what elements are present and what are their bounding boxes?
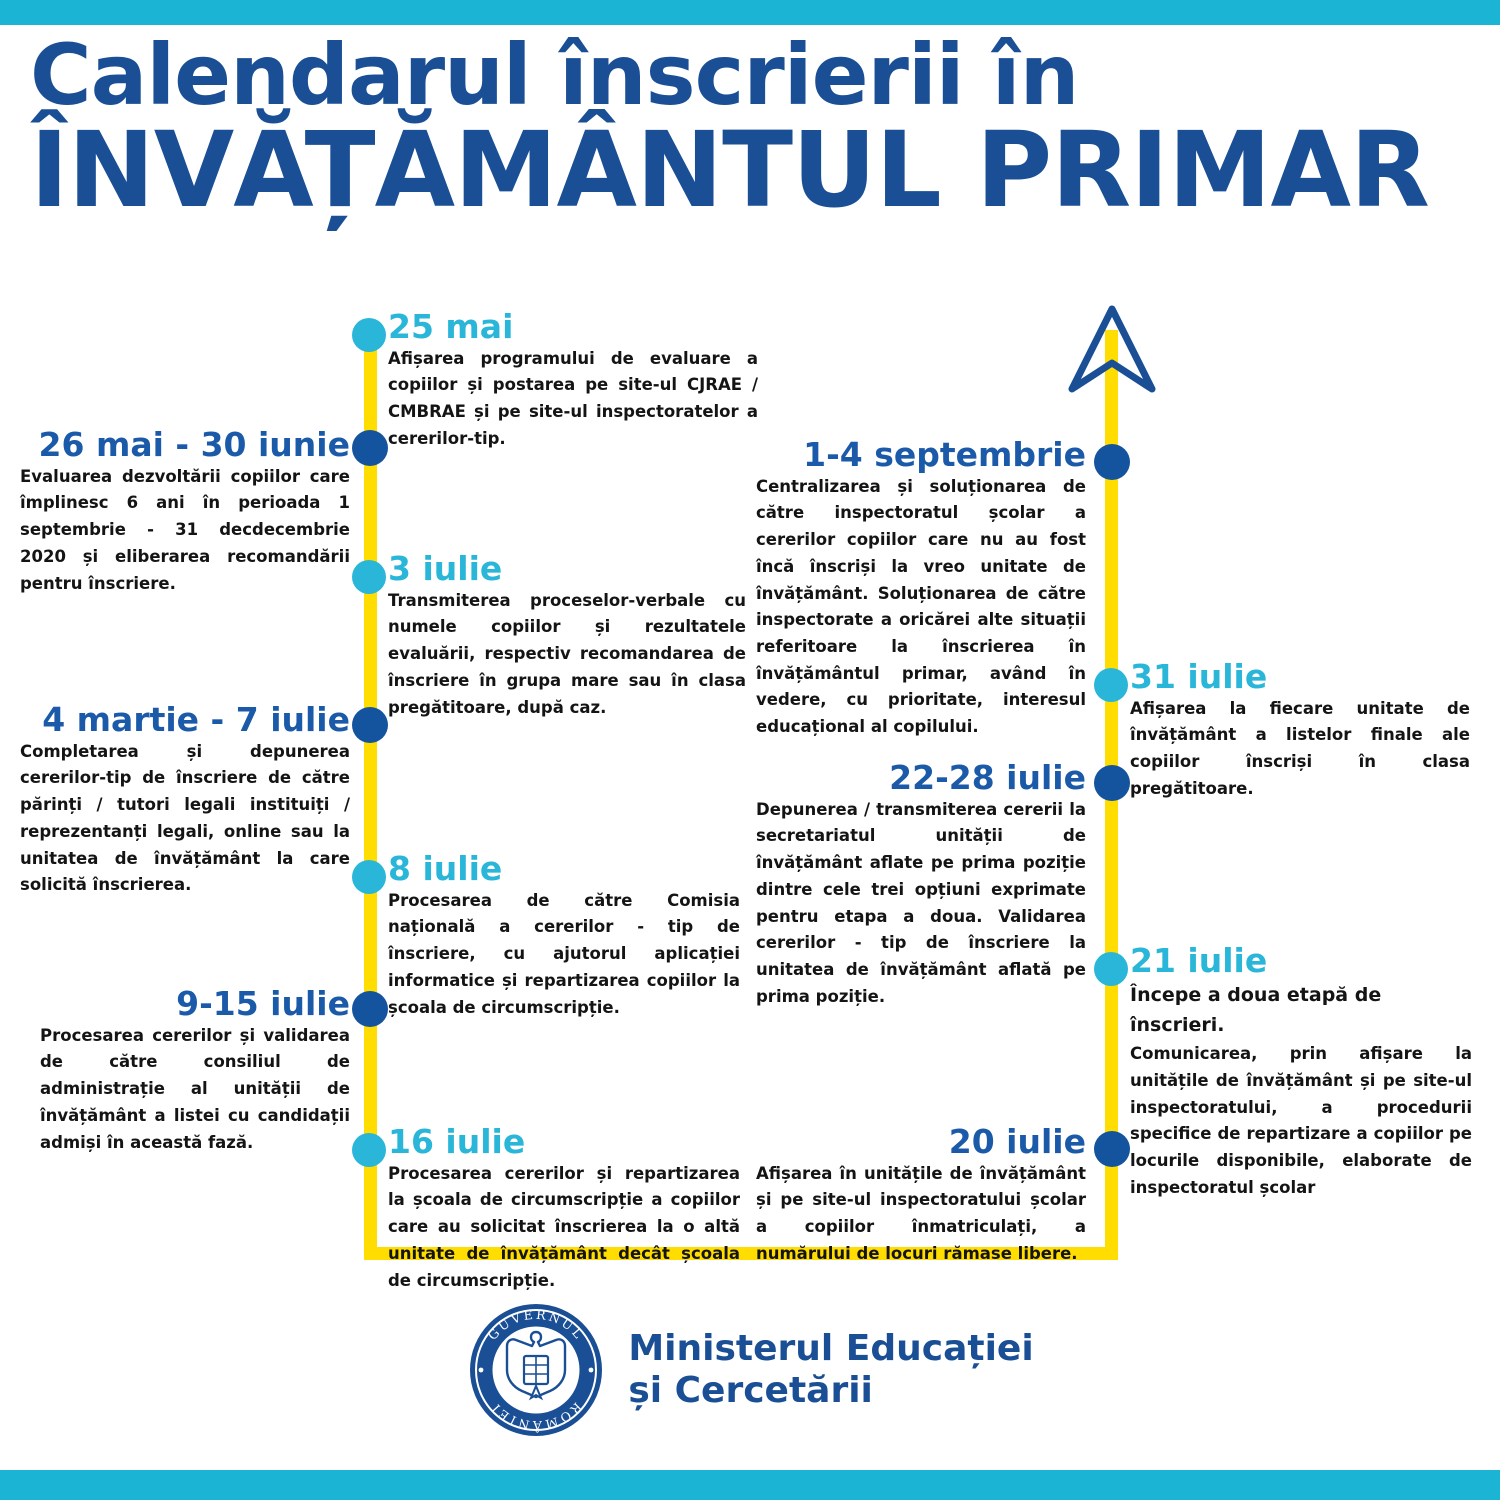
timeline-entry-22-28-iulie: 22-28 iulie Depunerea / transmiterea cer…: [756, 761, 1086, 1010]
timeline-node-20-iulie[interactable]: [1094, 1131, 1130, 1167]
timeline-entry-4-martie-7-iulie: 4 martie - 7 iulie Completarea și depune…: [20, 703, 350, 899]
bottom-color-band: [0, 1470, 1500, 1500]
timeline-node-26-mai-30-iunie[interactable]: [352, 430, 388, 466]
timeline-node-22-28-iulie[interactable]: [1094, 765, 1130, 801]
timeline-node-1-4-septembrie[interactable]: [1094, 444, 1130, 480]
timeline-node-16-iulie[interactable]: [352, 1133, 386, 1167]
entry-date: 8 iulie: [388, 852, 740, 886]
entry-text: Procesarea de către Comisia națională a …: [388, 888, 740, 1022]
entry-date: 21 iulie: [1130, 944, 1472, 978]
timeline-entry-21-iulie: 21 iulie Începe a doua etapă de înscrier…: [1130, 944, 1472, 1202]
timeline-entry-1-4-septembrie: 1-4 septembrie Centralizarea și soluțion…: [756, 438, 1086, 741]
footer: GUVERNUL ROMÂNIEI Ministerul Educației ș…: [0, 1300, 1500, 1440]
timeline-entry-3-iulie: 3 iulie Transmiterea proceselor-verbale …: [388, 552, 746, 721]
entry-text: Centralizarea și soluționarea de către i…: [756, 474, 1086, 741]
ministry-name: Ministerul Educației și Cercetării: [628, 1328, 1033, 1413]
top-color-band: [0, 0, 1500, 25]
entry-date: 9-15 iulie: [40, 987, 350, 1021]
timeline-node-9-15-iulie[interactable]: [352, 991, 388, 1027]
timeline-rail-left: [364, 330, 377, 1260]
entry-date: 31 iulie: [1130, 660, 1470, 694]
timeline-entry-16-iulie: 16 iulie Procesarea cererilor și reparti…: [388, 1125, 740, 1294]
entry-date: 3 iulie: [388, 552, 746, 586]
title-line-1: Calendarul înscrierii în: [30, 34, 1470, 116]
entry-text: Transmiterea proceselor-verbale cu numel…: [388, 588, 746, 722]
entry-text: Depunerea / transmiterea cererii la secr…: [756, 797, 1086, 1011]
timeline-node-4-martie-7-iulie[interactable]: [352, 707, 388, 743]
entry-text-wrapper: Începe a doua etapă de înscrieri. Comuni…: [1130, 980, 1472, 1202]
timeline-entry-8-iulie: 8 iulie Procesarea de către Comisia nați…: [388, 852, 740, 1021]
entry-text: Comunicarea, prin afișare la unitățile d…: [1130, 1044, 1472, 1197]
entry-text: Procesarea cererilor și validarea de căt…: [40, 1023, 350, 1157]
entry-text: Afișarea la fiecare unitate de învățămân…: [1130, 696, 1470, 803]
timeline-node-25-mai[interactable]: [352, 318, 386, 352]
timeline-node-3-iulie[interactable]: [352, 560, 386, 594]
ministry-line-2: și Cercetării: [628, 1370, 1033, 1412]
timeline-node-8-iulie[interactable]: [352, 860, 386, 894]
government-seal-icon: GUVERNUL ROMÂNIEI: [466, 1300, 606, 1440]
entry-text: Afișarea în unitățile de învățământ și p…: [756, 1161, 1086, 1268]
page-title: Calendarul înscrierii în ÎNVĂȚĂMÂNTUL PR…: [30, 34, 1470, 222]
timeline-entry-25-mai: 25 mai Afișarea programului de evaluare …: [388, 310, 758, 453]
entry-text: Completarea și depunerea cererilor-tip d…: [20, 739, 350, 899]
entry-text: Evaluarea dezvoltării copiilor care împl…: [20, 464, 350, 598]
timeline-entry-31-iulie: 31 iulie Afișarea la fiecare unitate de …: [1130, 660, 1470, 803]
entry-date: 16 iulie: [388, 1125, 740, 1159]
entry-text: Afișarea programului de evaluare a copii…: [388, 346, 758, 453]
timeline-arrow-icon: [1068, 305, 1156, 400]
entry-text: Procesarea cererilor și repartizarea la …: [388, 1161, 740, 1295]
entry-date: 25 mai: [388, 310, 758, 344]
timeline-entry-26-mai-30-iunie: 26 mai - 30 iunie Evaluarea dezvoltării …: [20, 428, 350, 597]
timeline-node-31-iulie[interactable]: [1094, 668, 1128, 702]
entry-date: 4 martie - 7 iulie: [20, 703, 350, 737]
title-line-2: ÎNVĂȚĂMÂNTUL PRIMAR: [30, 120, 1470, 222]
entry-date: 22-28 iulie: [756, 761, 1086, 795]
entry-date: 26 mai - 30 iunie: [20, 428, 350, 462]
timeline-node-21-iulie[interactable]: [1094, 952, 1128, 986]
entry-lead-text: Începe a doua etapă de înscrieri.: [1130, 980, 1472, 1042]
timeline-entry-20-iulie: 20 iulie Afișarea în unitățile de învăță…: [756, 1125, 1086, 1268]
timeline-entry-9-15-iulie: 9-15 iulie Procesarea cererilor și valid…: [40, 987, 350, 1156]
entry-date: 20 iulie: [756, 1125, 1086, 1159]
entry-date: 1-4 septembrie: [756, 438, 1086, 472]
ministry-line-1: Ministerul Educației: [628, 1328, 1033, 1370]
